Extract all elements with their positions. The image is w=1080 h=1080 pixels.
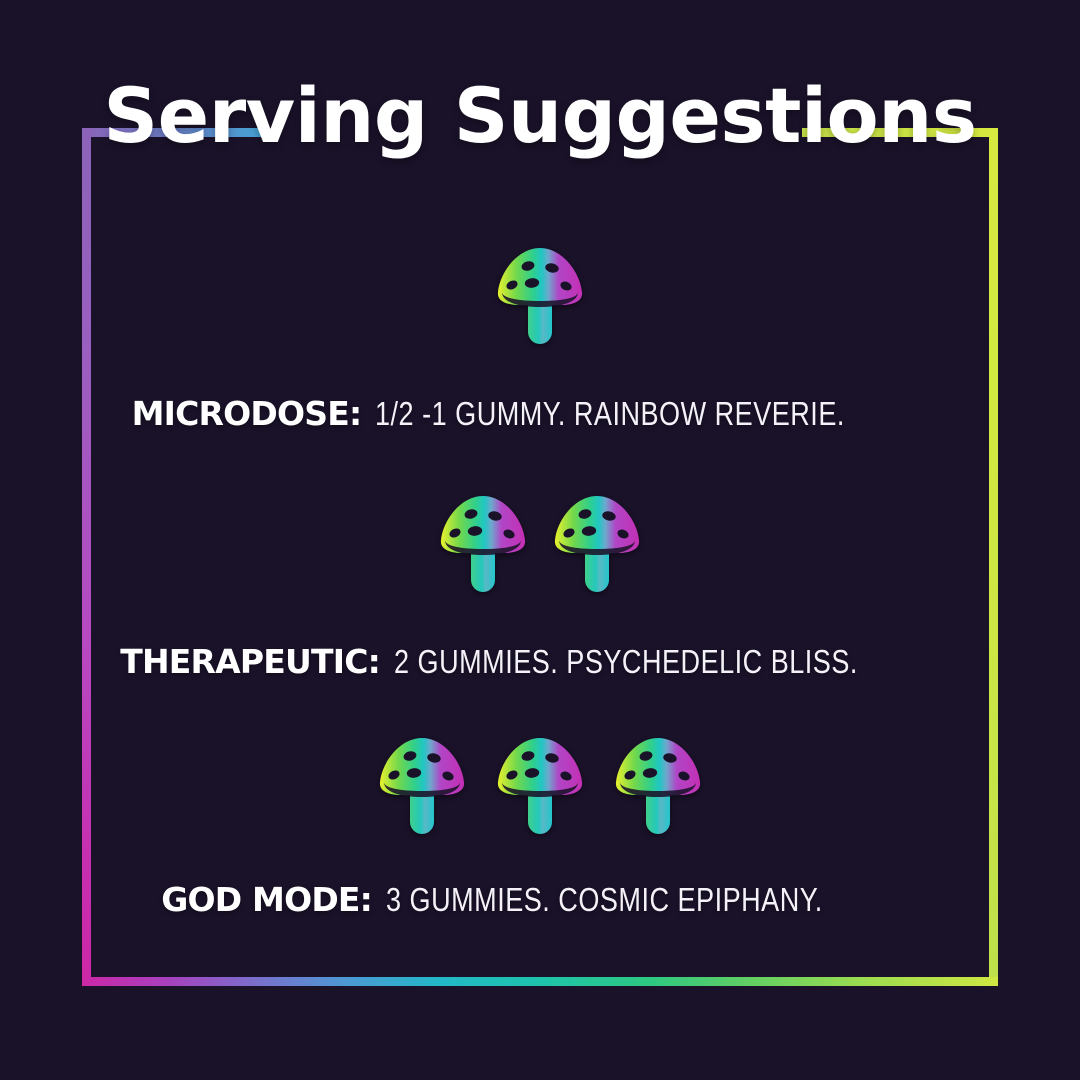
mushroom-icon — [374, 730, 470, 838]
page-title: Serving Suggestions — [0, 78, 1080, 154]
dose-description-microdose: 1/2 -1 GUMMY. RAINBOW REVERIE. — [375, 395, 845, 433]
dose-line: GOD MODE: 3 GUMMIES. COSMIC EPIPHANY. — [0, 880, 1080, 919]
serving-suggestions-card: Serving Suggestions — [0, 0, 1080, 1080]
mushroom-icon — [435, 488, 531, 596]
dose-line: THERAPEUTIC: 2 GUMMIES. PSYCHEDELIC BLIS… — [0, 642, 1080, 681]
dose-label-microdose: MICRODOSE: — [132, 394, 362, 433]
dose-description-therapeutic: 2 GUMMIES. PSYCHEDELIC BLISS. — [394, 643, 858, 681]
mushroom-row — [0, 484, 1080, 596]
mushroom-row — [0, 726, 1080, 838]
dose-block-therapeutic: THERAPEUTIC: 2 GUMMIES. PSYCHEDELIC BLIS… — [0, 484, 1080, 681]
mushroom-icon — [549, 488, 645, 596]
dose-block-microdose: MICRODOSE: 1/2 -1 GUMMY. RAINBOW REVERIE… — [0, 236, 1080, 433]
dose-description-god-mode: 3 GUMMIES. COSMIC EPIPHANY. — [386, 881, 823, 919]
dose-block-god-mode: GOD MODE: 3 GUMMIES. COSMIC EPIPHANY. — [0, 726, 1080, 919]
mushroom-row — [0, 236, 1080, 348]
mushroom-icon — [492, 730, 588, 838]
frame-border-bottom — [82, 977, 998, 986]
dose-line: MICRODOSE: 1/2 -1 GUMMY. RAINBOW REVERIE… — [0, 394, 1080, 433]
mushroom-icon — [610, 730, 706, 838]
dose-label-god-mode: GOD MODE: — [161, 880, 372, 919]
mushroom-icon — [492, 240, 588, 348]
dose-label-therapeutic: THERAPEUTIC: — [120, 642, 380, 681]
